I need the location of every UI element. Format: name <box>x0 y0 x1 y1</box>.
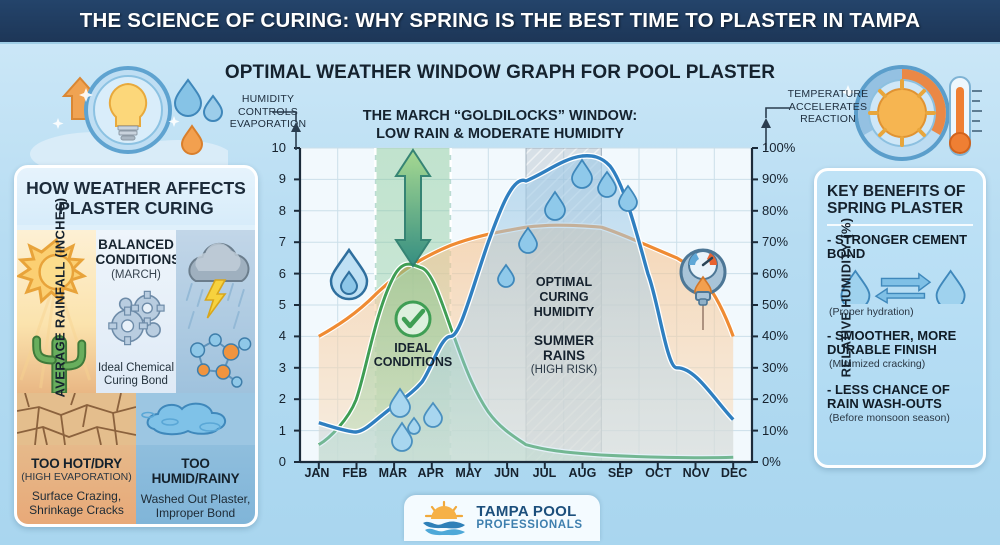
company-logo: TAMPA POOL PROFESSIONALS <box>404 495 600 541</box>
y-tick-6: 6 <box>258 266 286 281</box>
logo-line1: TAMPA POOL <box>476 504 582 519</box>
month-oct: OCT <box>639 466 677 480</box>
y-tick-4: 4 <box>258 328 286 343</box>
summer-rains-line3: (HIGH RISK) <box>514 364 614 377</box>
y2-tick-20: 20% <box>762 391 802 406</box>
summer-rains-line1: SUMMER <box>514 333 614 348</box>
y-tick-0: 0 <box>258 454 286 469</box>
y2-tick-10: 10% <box>762 423 802 438</box>
month-nov: NOV <box>677 466 715 480</box>
y2-tick-0: 0% <box>762 454 802 469</box>
ideal-conditions-label-line2: CONDITIONS <box>358 355 468 369</box>
y-tick-8: 8 <box>258 203 286 218</box>
y2-tick-40: 40% <box>762 328 802 343</box>
month-sep: SEP <box>601 466 639 480</box>
y2-tick-60: 60% <box>762 266 802 281</box>
y-tick-9: 9 <box>258 171 286 186</box>
y2-tick-70: 70% <box>762 234 802 249</box>
optimal-humidity-line2: CURING <box>514 290 614 305</box>
weather-window-chart <box>0 0 1000 545</box>
logo-line2: PROFESSIONALS <box>476 520 582 532</box>
month-jul: JUL <box>526 466 564 480</box>
y-tick-5: 5 <box>258 297 286 312</box>
optimal-humidity-line3: HUMIDITY <box>514 305 614 320</box>
summer-rains-label: SUMMER RAINS (HIGH RISK) <box>514 333 614 377</box>
month-dec: DEC <box>715 466 753 480</box>
month-feb: FEB <box>336 466 374 480</box>
y2-tick-80: 80% <box>762 203 802 218</box>
ideal-check-icon <box>396 302 430 336</box>
month-aug: AUG <box>563 466 601 480</box>
month-may: MAY <box>450 466 488 480</box>
y2-tick-30: 30% <box>762 360 802 375</box>
optimal-humidity-line1: OPTIMAL <box>514 275 614 290</box>
y2-tick-90: 90% <box>762 171 802 186</box>
logo-text: TAMPA POOL PROFESSIONALS <box>476 504 582 531</box>
y-tick-7: 7 <box>258 234 286 249</box>
summer-rains-line2: RAINS <box>514 348 614 363</box>
x-axis-month-labels: JAN FEB MAR APR MAY JUN JUL AUG SEP OCT … <box>298 466 753 480</box>
month-apr: APR <box>412 466 450 480</box>
y2-tick-50: 50% <box>762 297 802 312</box>
y2-tick-100: 100% <box>762 140 802 155</box>
y-tick-3: 3 <box>258 360 286 375</box>
y-tick-2: 2 <box>258 391 286 406</box>
sun-waves-logo-icon <box>421 500 467 536</box>
infographic-page: THE SCIENCE OF CURING: WHY SPRING IS THE… <box>0 0 1000 545</box>
y-tick-1: 1 <box>258 423 286 438</box>
ideal-conditions-label-line1: IDEAL <box>358 341 468 355</box>
ideal-conditions-label: IDEAL CONDITIONS <box>358 341 468 370</box>
y-tick-10: 10 <box>258 140 286 155</box>
month-jan: JAN <box>298 466 336 480</box>
optimal-curing-humidity-label: OPTIMAL CURING HUMIDITY <box>514 275 614 319</box>
month-jun: JUN <box>488 466 526 480</box>
month-mar: MAR <box>374 466 412 480</box>
